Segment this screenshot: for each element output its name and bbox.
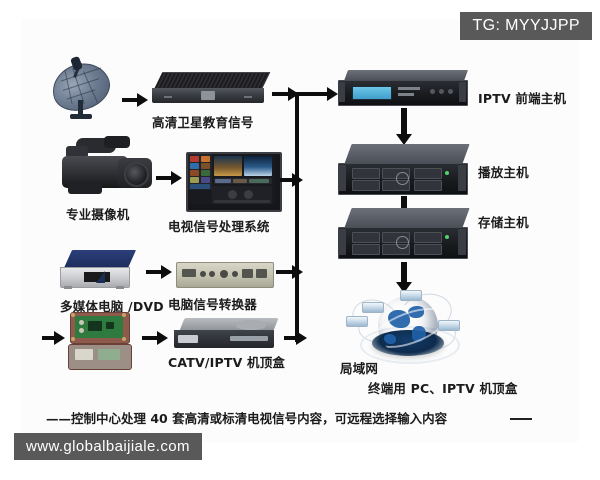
label-professional-camera: 专业摄像机: [66, 204, 130, 223]
caption-trailing-dash: [510, 418, 532, 420]
diagram-caption: ——控制中心处理 40 套高清或标清电视信号内容，可远程选择输入内容: [46, 408, 546, 427]
label-signal-converter: 电脑信号转换器: [168, 294, 257, 313]
collector-bus-line: [295, 92, 299, 342]
rack-server-2u-icon-playout: [338, 144, 470, 196]
label-storage-server: 存储主机: [478, 212, 529, 231]
circuit-board-module-icon: [68, 312, 134, 370]
signal-converter-icon: [176, 262, 272, 286]
diagram-canvas: 高清卫星教育信号 专业摄像机: [0, 0, 600, 480]
label-catv-iptv-stb: CATV/IPTV 机顶盒: [168, 352, 285, 371]
professional-camcorder-icon: [58, 136, 154, 198]
set-top-box-icon: [174, 318, 280, 350]
video-editing-monitor-icon: [186, 152, 278, 208]
label-tv-signal-processing: 电视信号处理系统: [168, 216, 270, 235]
rack-server-1u-icon: [338, 70, 470, 106]
label-terminal-devices: 终端用 PC、IPTV 机顶盒: [368, 378, 518, 397]
telegram-watermark-badge: TG: MYYJJPP: [460, 12, 592, 40]
label-satellite-signal: 高清卫星教育信号: [152, 112, 254, 131]
globe-network-icon: [338, 286, 478, 362]
label-iptv-headend: IPTV 前端主机: [478, 88, 566, 107]
site-watermark-badge: www.globalbaijiale.com: [14, 433, 202, 460]
rack-server-2u-icon-storage: [338, 208, 470, 260]
label-lan: 局域网: [340, 358, 378, 377]
hd-satellite-receiver-icon: [152, 72, 270, 106]
satellite-dish-icon: [52, 60, 122, 118]
multimedia-pc-dvd-icon: [60, 250, 144, 294]
label-playout-server: 播放主机: [478, 162, 529, 181]
